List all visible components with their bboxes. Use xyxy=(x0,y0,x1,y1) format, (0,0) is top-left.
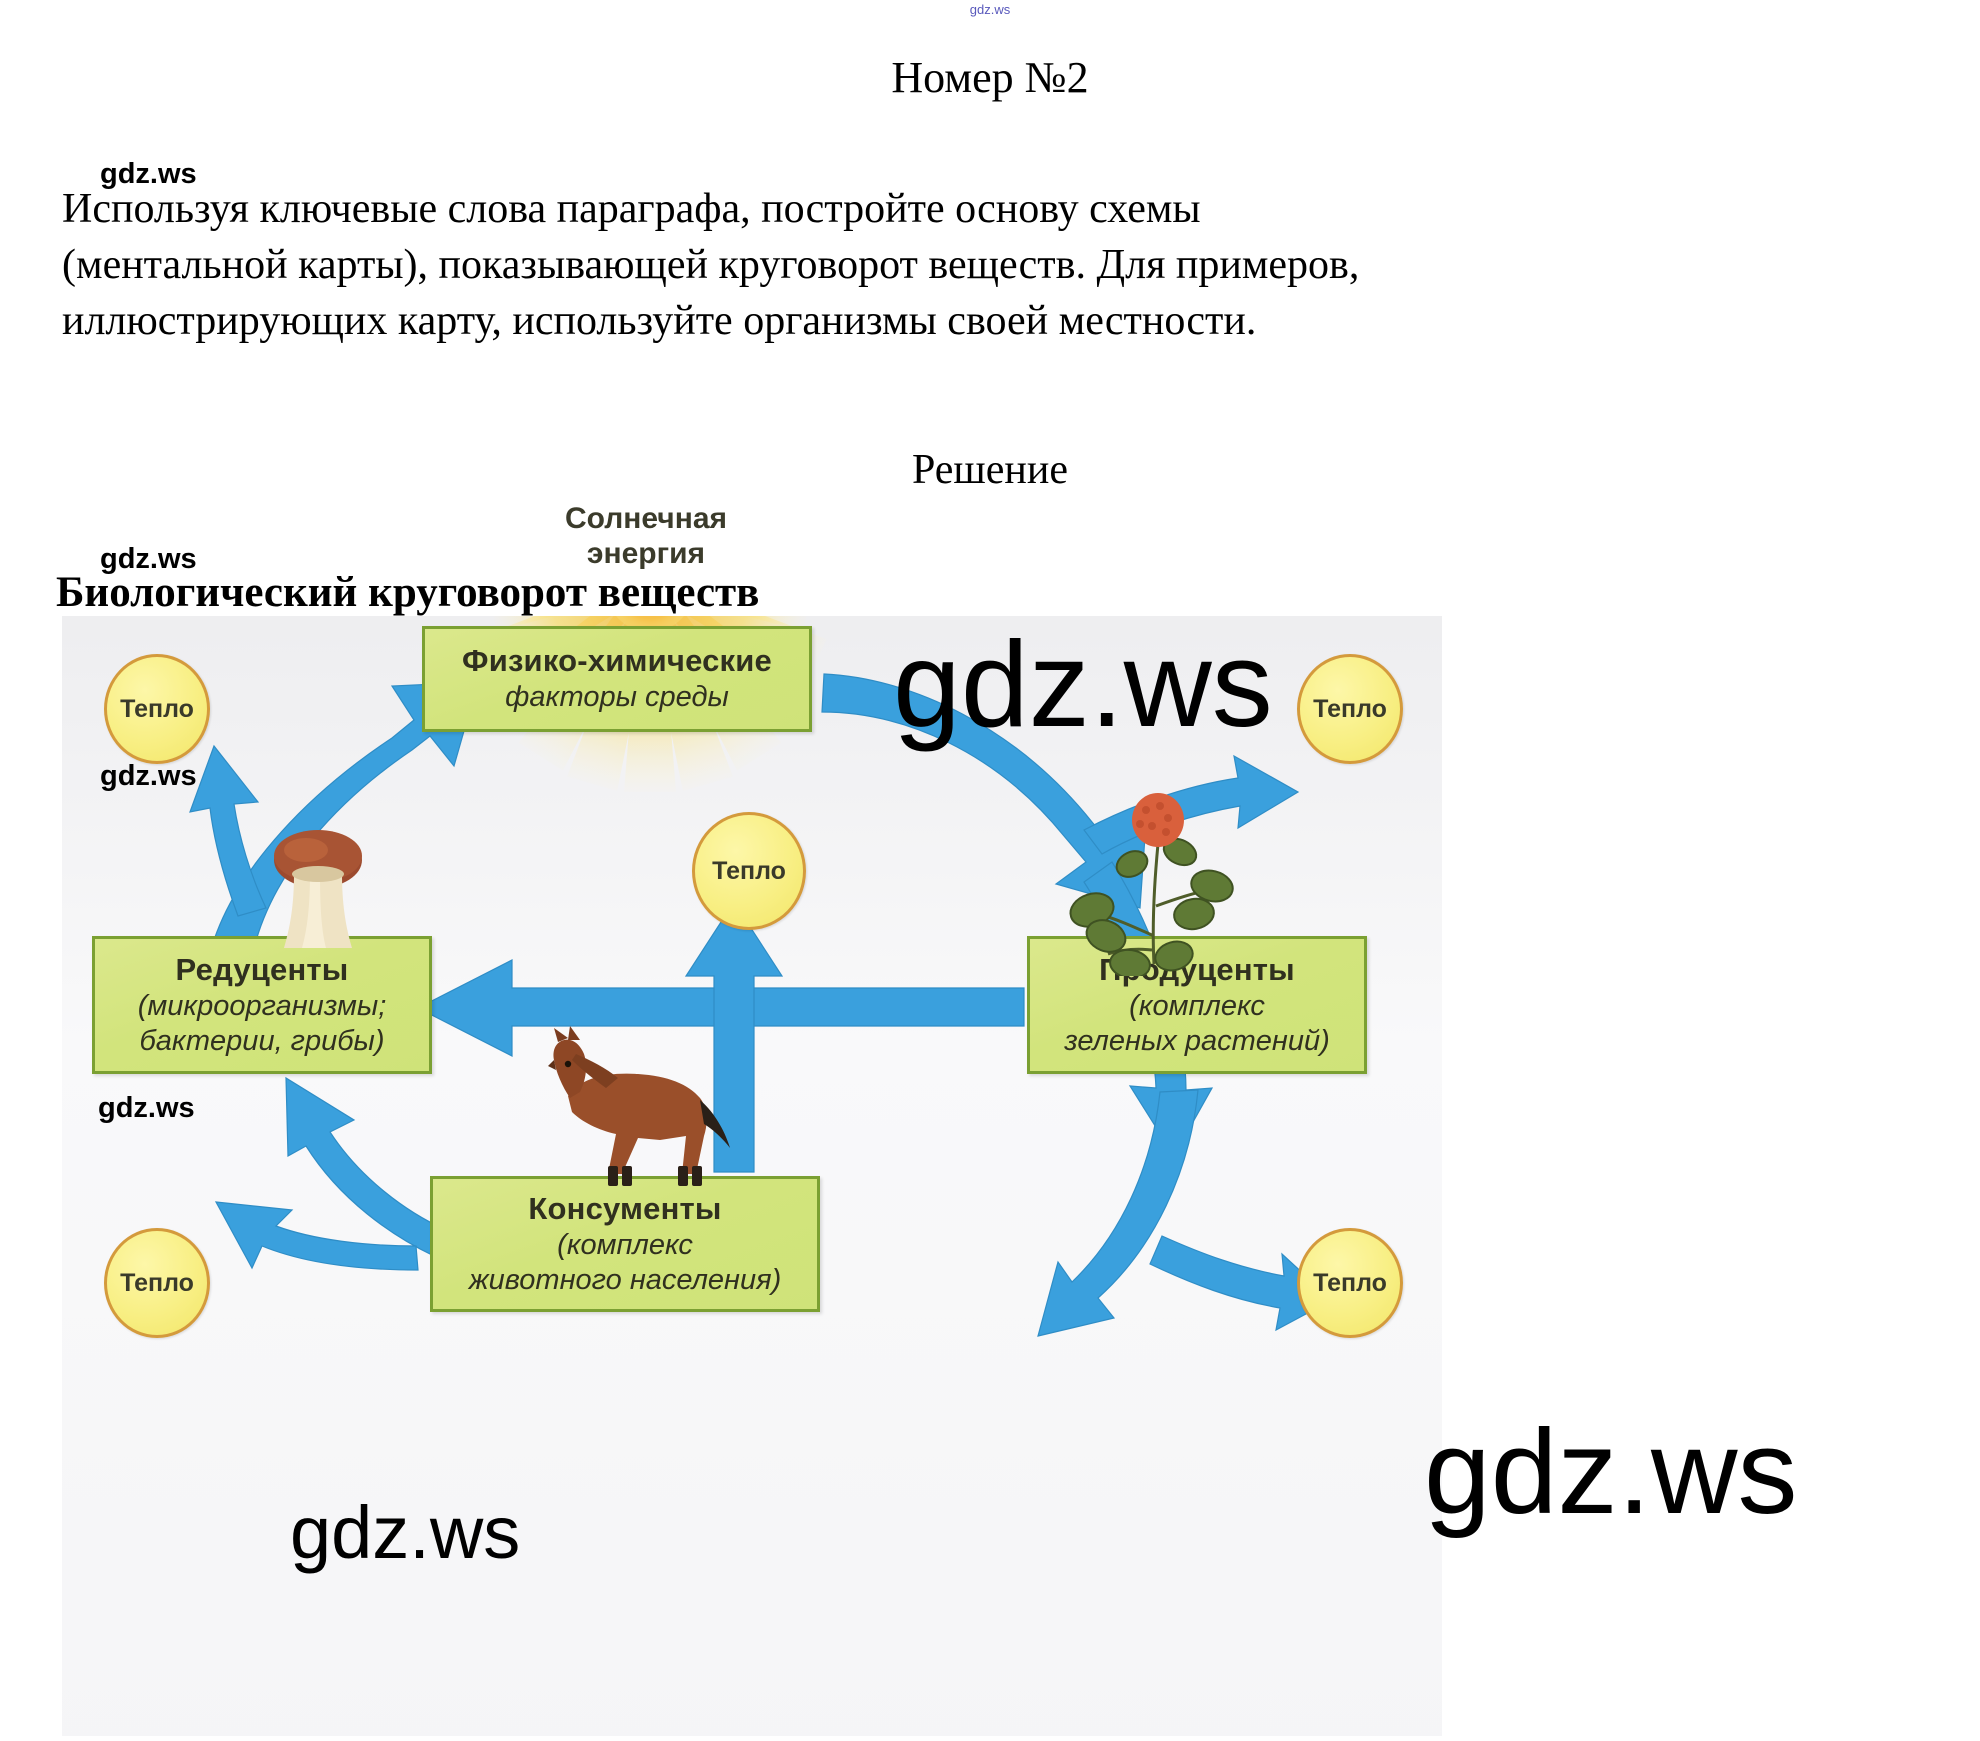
page-title: Номер №2 xyxy=(0,52,1980,103)
question-line-1: Используя ключевые слова параграфа, пост… xyxy=(62,182,1562,238)
watermark-small-3: gdz.ws xyxy=(100,762,197,791)
box-physical-line-1: Физико-химические xyxy=(462,642,772,680)
solution-heading: Решение xyxy=(0,446,1980,494)
clover-plant-icon xyxy=(1062,786,1242,976)
sun-label-line-2: энергия xyxy=(587,537,705,570)
box-reducers-line-3: бактерии, грибы) xyxy=(139,1024,384,1059)
arrow-producers-to-consumers xyxy=(1038,1090,1198,1336)
heat-node-bottom-left[interactable]: Тепло xyxy=(104,1228,210,1338)
box-consumers-line-3: животного населения) xyxy=(469,1263,782,1298)
box-producers-line-2: (комплекс xyxy=(1129,989,1265,1024)
box-reducers-line-2: (микроорганизмы; xyxy=(138,989,387,1024)
heat-node-top-right[interactable]: Тепло xyxy=(1297,654,1403,764)
heat-label-top-left: Тепло xyxy=(120,695,194,724)
biological-cycle-diagram: Солнечная энергия xyxy=(62,616,1442,1736)
mushroom-icon xyxy=(258,812,378,962)
heat-node-bottom-right[interactable]: Тепло xyxy=(1297,1228,1403,1338)
heat-node-top-left[interactable]: Тепло xyxy=(104,654,210,764)
heat-label-bottom-left: Тепло xyxy=(120,1269,194,1298)
watermark-big-3: gdz.ws xyxy=(290,1500,520,1567)
box-physical-chemical-factors[interactable]: Физико-химические факторы среды xyxy=(422,626,812,732)
box-consumers[interactable]: Консументы (комплекс животного населения… xyxy=(430,1176,820,1312)
sun-energy-label: Солнечная энергия xyxy=(496,502,796,571)
watermark-small-4: gdz.ws xyxy=(98,1094,195,1123)
question-text: Используя ключевые слова параграфа, пост… xyxy=(62,182,1562,350)
box-physical-line-2: факторы среды xyxy=(505,680,729,715)
sun-label-line-1: Солнечная xyxy=(565,502,727,535)
box-producers-line-3: зеленых растений) xyxy=(1064,1024,1330,1059)
watermark-big-1: gdz.ws xyxy=(893,630,1273,740)
heat-label-top-right: Тепло xyxy=(1313,695,1387,724)
question-line-2: (ментальной карты), показывающей кругово… xyxy=(62,238,1562,294)
arrow-consumers-to-reducers xyxy=(216,1078,446,1270)
horse-icon xyxy=(510,1024,740,1194)
watermark-top-tiny: gdz.ws xyxy=(970,2,1010,17)
watermark-big-2: gdz.ws xyxy=(1424,1418,1797,1526)
heat-label-center: Тепло xyxy=(712,857,786,886)
box-consumers-line-2: (комплекс xyxy=(557,1228,693,1263)
section-title: Биологический круговорот веществ xyxy=(56,568,759,617)
box-consumers-line-1: Консументы xyxy=(528,1190,721,1228)
heat-node-center[interactable]: Тепло xyxy=(692,812,806,930)
question-line-3: иллюстрирующих карту, используйте органи… xyxy=(62,294,1562,350)
heat-label-bottom-right: Тепло xyxy=(1313,1269,1387,1298)
